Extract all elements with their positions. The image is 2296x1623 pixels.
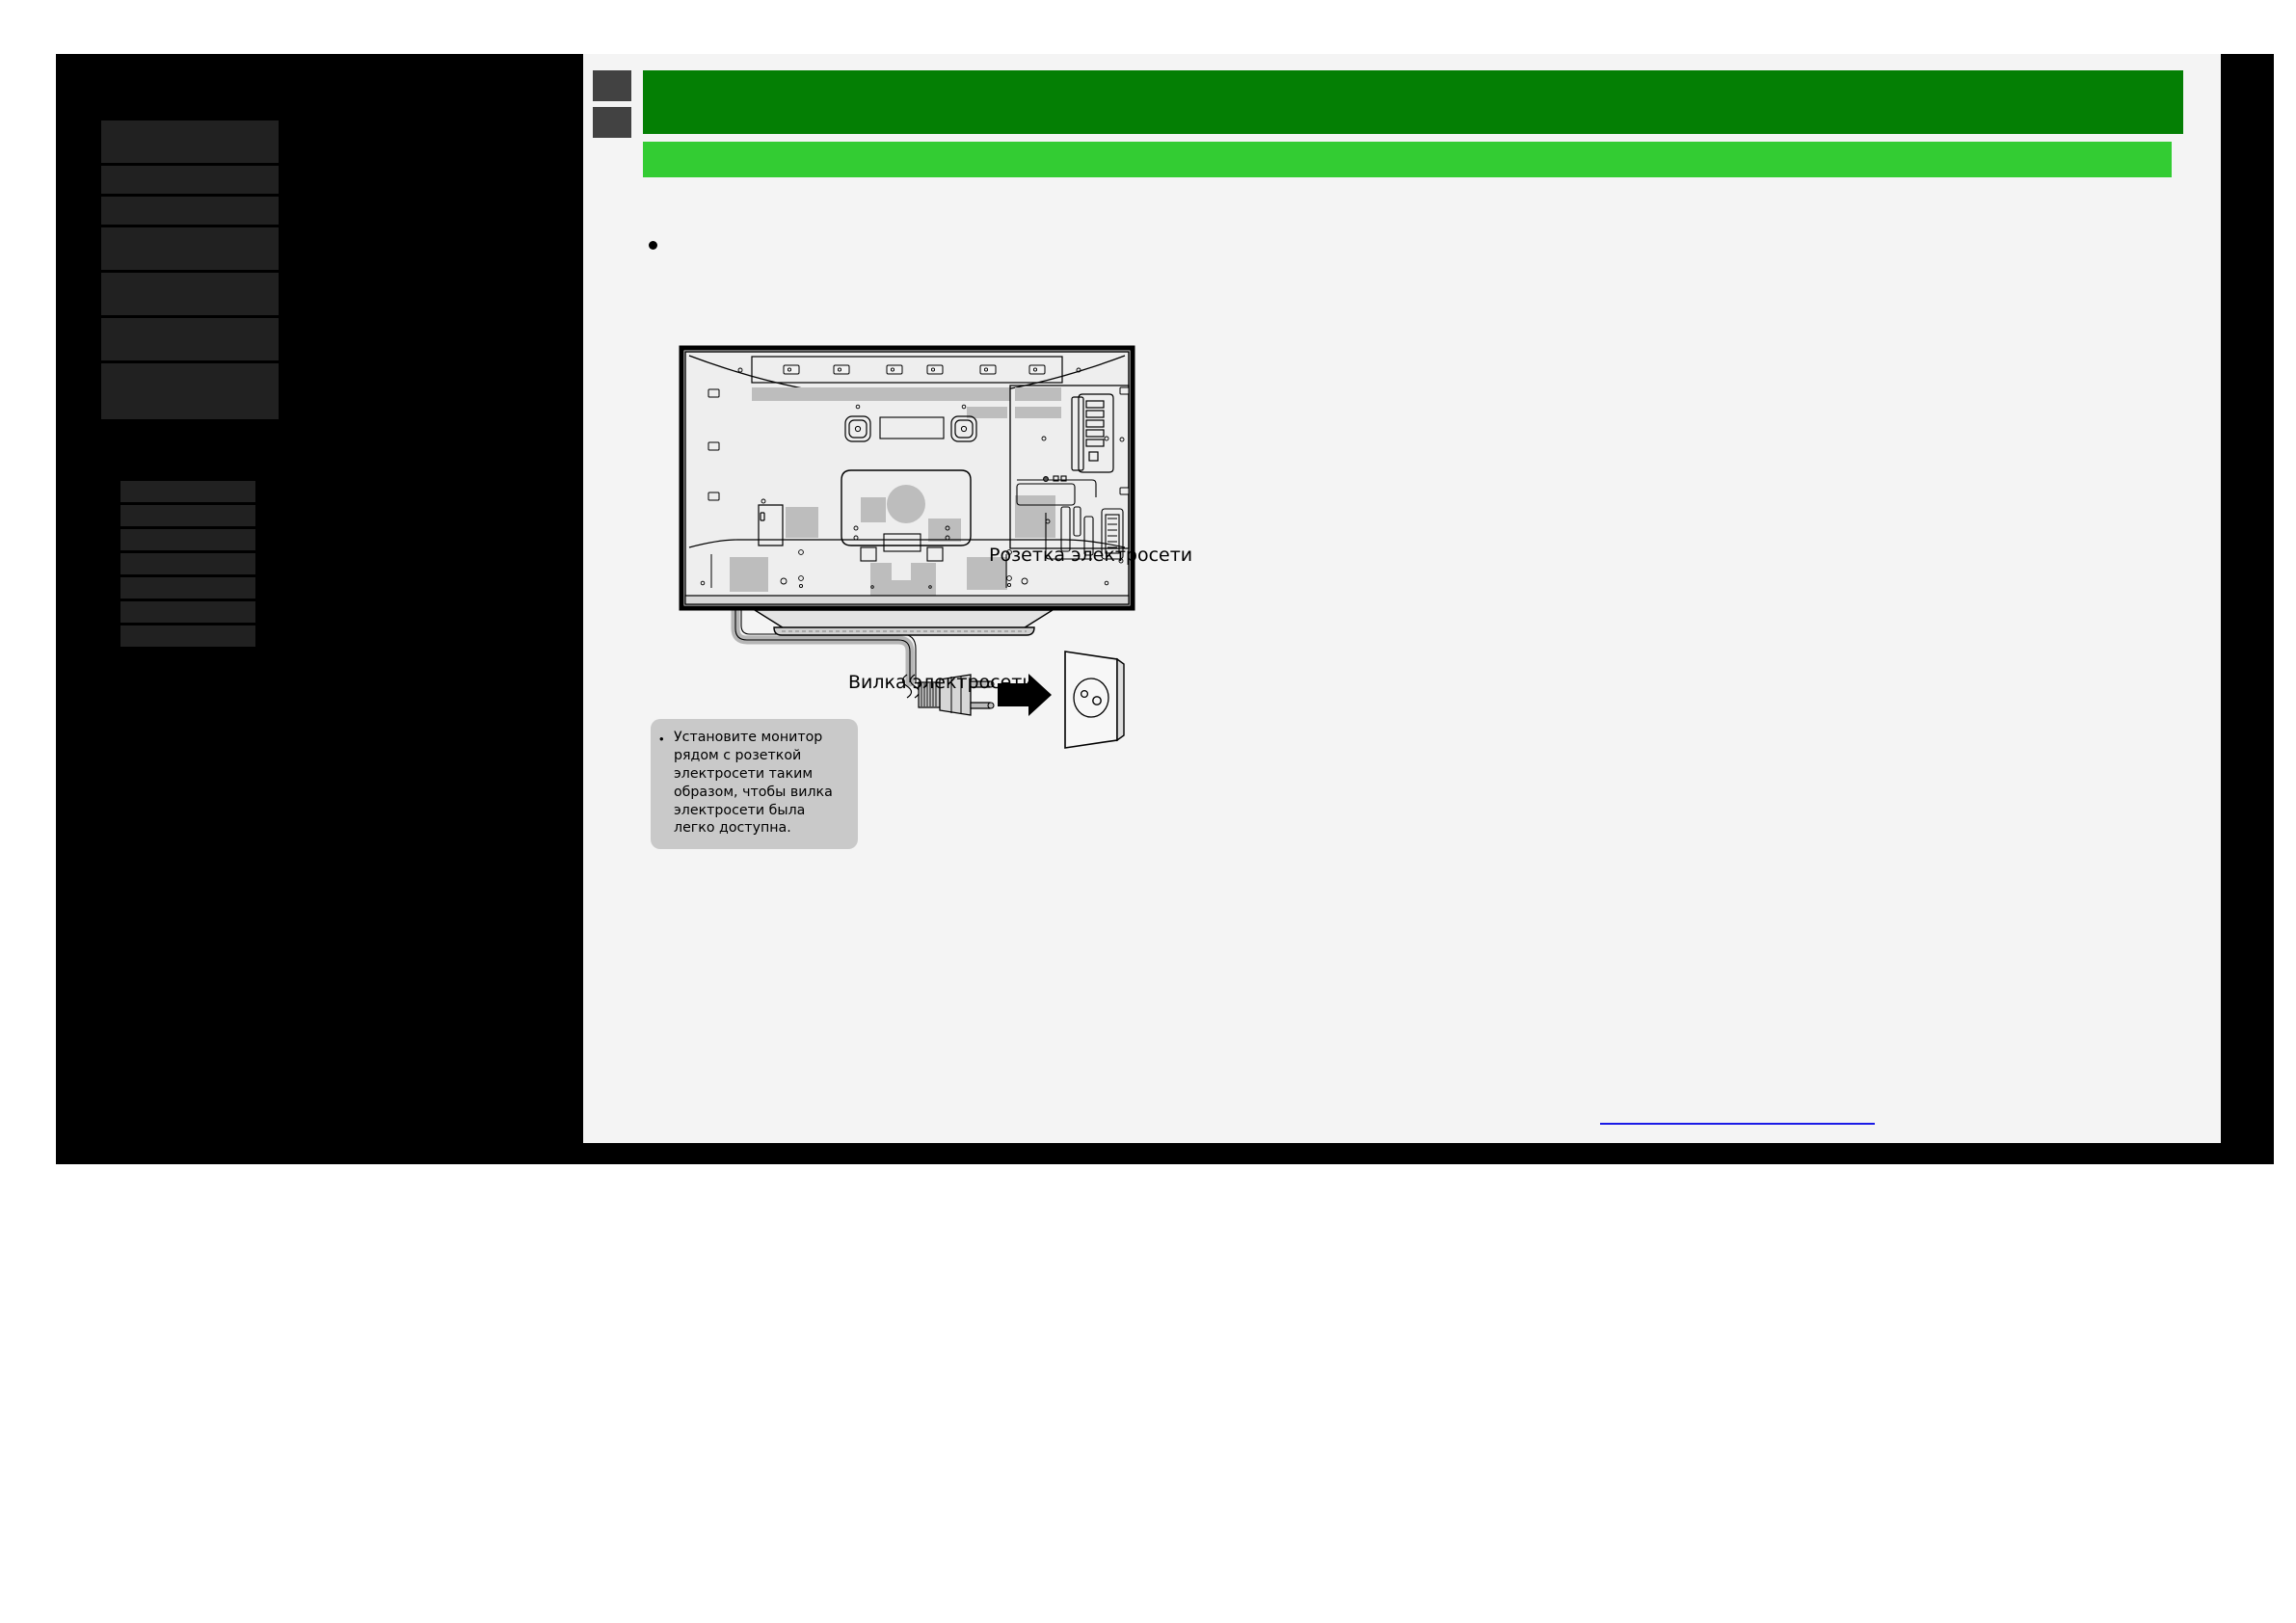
- nav-item-2[interactable]: [101, 166, 279, 197]
- nav-item-7[interactable]: [101, 363, 279, 422]
- monitor-rear-body: [681, 348, 1133, 608]
- vertical-scrollbar[interactable]: [2221, 54, 2274, 1164]
- nav-sub-item-5[interactable]: [120, 577, 255, 601]
- sidebar-group-secondary: [120, 481, 255, 650]
- nav-item-1[interactable]: [101, 120, 279, 166]
- header-icon-stack: [593, 70, 631, 144]
- nav-item-5[interactable]: [101, 273, 279, 318]
- mains-socket-icon: [1065, 652, 1124, 748]
- nav-item-6[interactable]: [101, 318, 279, 363]
- toolbar-icon-1[interactable]: [593, 70, 631, 101]
- callout-bullet-icon: •: [659, 732, 664, 745]
- page-root: Розетка электросети Вилка электросети • …: [0, 0, 2296, 1623]
- installation-note-callout: • Установите монитор рядом с розеткой эл…: [651, 719, 858, 849]
- nav-sub-item-6[interactable]: [120, 601, 255, 625]
- bullet-marker-icon: [649, 241, 657, 250]
- power-connection-figure: Розетка электросети Вилка электросети • …: [612, 343, 1576, 864]
- bottom-black-strip: [580, 1143, 2221, 1164]
- callout-text: Установите монитор рядом с розеткой элек…: [674, 729, 846, 838]
- section-title-banner: [643, 70, 2183, 134]
- caption-power-plug: Вилка электросети: [848, 672, 1034, 693]
- nav-sub-item-1[interactable]: [120, 481, 255, 505]
- sidebar-navigation: [56, 54, 580, 1164]
- toolbar-icon-2[interactable]: [593, 107, 631, 138]
- nav-item-3[interactable]: [101, 197, 279, 227]
- sidebar-group-primary: [101, 120, 279, 422]
- footer-link[interactable]: [1600, 1105, 1875, 1125]
- nav-sub-item-7[interactable]: [120, 625, 255, 650]
- body-bullet-row: [649, 235, 657, 254]
- nav-sub-item-4[interactable]: [120, 553, 255, 577]
- nav-sub-item-3[interactable]: [120, 529, 255, 553]
- nav-sub-item-2[interactable]: [120, 505, 255, 529]
- caption-mains-socket: Розетка электросети: [989, 545, 1192, 566]
- section-subtitle-banner: [643, 142, 2172, 177]
- main-content-panel: Розетка электросети Вилка электросети • …: [580, 54, 2221, 1143]
- nav-item-4[interactable]: [101, 227, 279, 273]
